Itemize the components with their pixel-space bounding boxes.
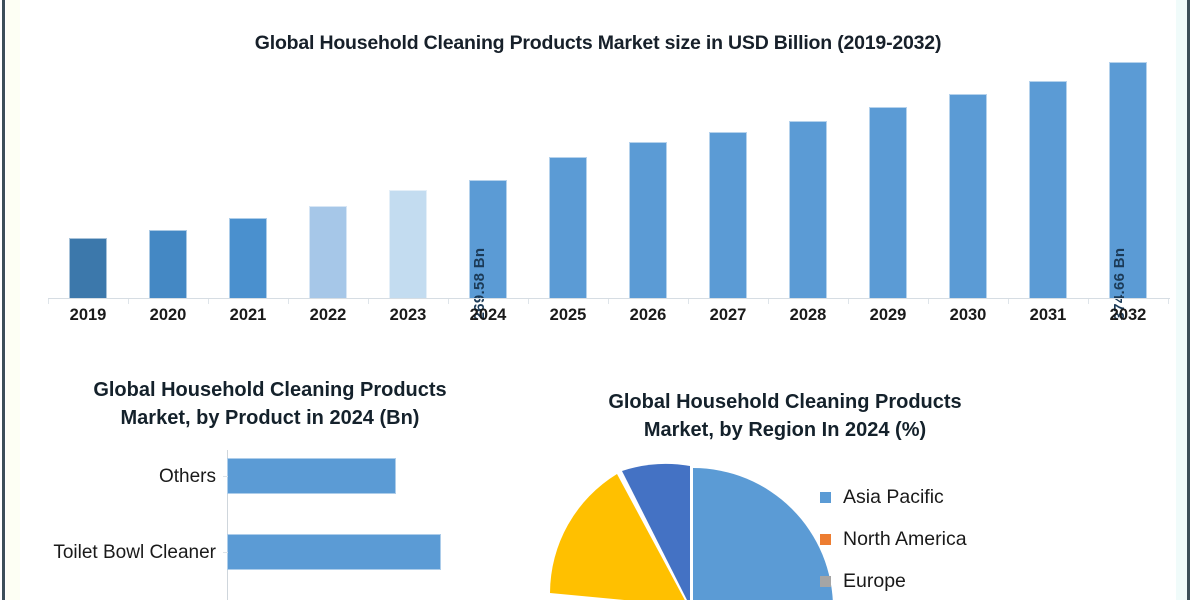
x-label-2031: 2031 bbox=[1008, 306, 1088, 325]
x-label-2025: 2025 bbox=[528, 306, 608, 325]
top-chart-bars: 269.58 Bn374.66 Bn bbox=[48, 55, 1168, 298]
legend-label-0: Asia Pacific bbox=[843, 486, 944, 509]
market-size-bar-chart: Global Household Cleaning Products Marke… bbox=[20, 0, 1176, 348]
axis-tick-2022 bbox=[288, 299, 289, 304]
bar-2029[interactable] bbox=[869, 107, 907, 298]
pie-svg bbox=[512, 446, 872, 600]
product-label-1: Toilet Bowl Cleaner bbox=[20, 542, 216, 564]
bar-2023[interactable] bbox=[389, 190, 427, 298]
axis-tick-2032 bbox=[1088, 299, 1089, 304]
axis-tick-2020 bbox=[128, 299, 129, 304]
region-chart-title-line2: Market, by Region In 2024 (%) bbox=[550, 416, 1020, 444]
bar-2028[interactable] bbox=[789, 121, 827, 298]
legend-item-1[interactable]: North America bbox=[820, 518, 1150, 560]
bar-2026[interactable] bbox=[629, 142, 667, 298]
axis-tick-2030 bbox=[928, 299, 929, 304]
bar-2020[interactable] bbox=[149, 230, 187, 298]
top-chart-plot-area: 269.58 Bn374.66 Bn bbox=[48, 55, 1168, 299]
x-label-2022: 2022 bbox=[288, 306, 368, 325]
x-label-2023: 2023 bbox=[368, 306, 448, 325]
product-chart-title: Global Household Cleaning Products Marke… bbox=[20, 376, 520, 433]
x-label-2032: 2032 bbox=[1088, 306, 1168, 325]
chart-page: Global Household Cleaning Products Marke… bbox=[0, 0, 1200, 600]
x-label-2027: 2027 bbox=[688, 306, 768, 325]
page-right-edge bbox=[1187, 0, 1190, 600]
top-chart-axis-ticks bbox=[48, 299, 1170, 304]
product-axis-tick-1 bbox=[223, 552, 228, 553]
bar-2021[interactable] bbox=[229, 218, 267, 298]
product-bar-0[interactable] bbox=[227, 458, 396, 494]
product-chart-title-line1: Global Household Cleaning Products bbox=[20, 376, 520, 404]
pie-legend: Asia PacificNorth AmericaEurope bbox=[820, 476, 1150, 600]
axis-tick-2026 bbox=[608, 299, 609, 304]
page-left-edge bbox=[2, 0, 5, 600]
x-label-2029: 2029 bbox=[848, 306, 928, 325]
legend-item-2[interactable]: Europe bbox=[820, 560, 1150, 600]
product-bar-1[interactable] bbox=[227, 534, 441, 570]
product-axis-tick-0 bbox=[223, 476, 228, 477]
bar-2025[interactable] bbox=[549, 157, 587, 298]
bar-2019[interactable] bbox=[69, 238, 107, 298]
product-bar-chart: Global Household Cleaning Products Marke… bbox=[20, 372, 540, 600]
x-label-2030: 2030 bbox=[928, 306, 1008, 325]
axis-tick-end bbox=[1168, 299, 1169, 304]
bar-2030[interactable] bbox=[949, 94, 987, 298]
axis-tick-2024 bbox=[448, 299, 449, 304]
region-pie-chart: Global Household Cleaning Products Marke… bbox=[545, 388, 1185, 600]
axis-tick-2028 bbox=[768, 299, 769, 304]
axis-tick-2023 bbox=[368, 299, 369, 304]
pie-graphic bbox=[512, 446, 872, 600]
page-left-inner-edge bbox=[6, 0, 20, 600]
product-chart-title-line2: Market, by Product in 2024 (Bn) bbox=[20, 404, 520, 432]
x-label-2028: 2028 bbox=[768, 306, 848, 325]
axis-tick-2025 bbox=[528, 299, 529, 304]
x-label-2019: 2019 bbox=[48, 306, 128, 325]
region-chart-title-line1: Global Household Cleaning Products bbox=[550, 388, 1020, 416]
bar-2027[interactable] bbox=[709, 132, 747, 298]
bar-2024[interactable]: 269.58 Bn bbox=[469, 180, 507, 298]
x-label-2021: 2021 bbox=[208, 306, 288, 325]
axis-tick-2019 bbox=[48, 299, 49, 304]
legend-label-2: Europe bbox=[843, 570, 906, 593]
top-chart-x-axis-labels: 2019202020212022202320242025202620272028… bbox=[48, 306, 1168, 332]
legend-swatch-icon-1 bbox=[820, 534, 831, 545]
bar-2022[interactable] bbox=[309, 206, 347, 298]
axis-tick-2031 bbox=[1008, 299, 1009, 304]
legend-item-0[interactable]: Asia Pacific bbox=[820, 476, 1150, 518]
axis-tick-2021 bbox=[208, 299, 209, 304]
legend-swatch-icon-0 bbox=[820, 492, 831, 503]
legend-label-1: North America bbox=[843, 528, 967, 551]
x-label-2026: 2026 bbox=[608, 306, 688, 325]
region-chart-title: Global Household Cleaning Products Marke… bbox=[550, 388, 1020, 445]
bar-2031[interactable] bbox=[1029, 81, 1067, 298]
bar-2032[interactable]: 374.66 Bn bbox=[1109, 62, 1147, 298]
top-chart-title: Global Household Cleaning Products Marke… bbox=[20, 32, 1176, 55]
x-label-2024: 2024 bbox=[448, 306, 528, 325]
product-chart-plot-area: OthersToilet Bowl Cleaner bbox=[20, 450, 520, 600]
pie-slice-asia-pacific[interactable] bbox=[693, 468, 833, 600]
axis-tick-2027 bbox=[688, 299, 689, 304]
x-label-2020: 2020 bbox=[128, 306, 208, 325]
legend-swatch-icon-2 bbox=[820, 576, 831, 587]
product-label-0: Others bbox=[20, 466, 216, 488]
axis-tick-2029 bbox=[848, 299, 849, 304]
